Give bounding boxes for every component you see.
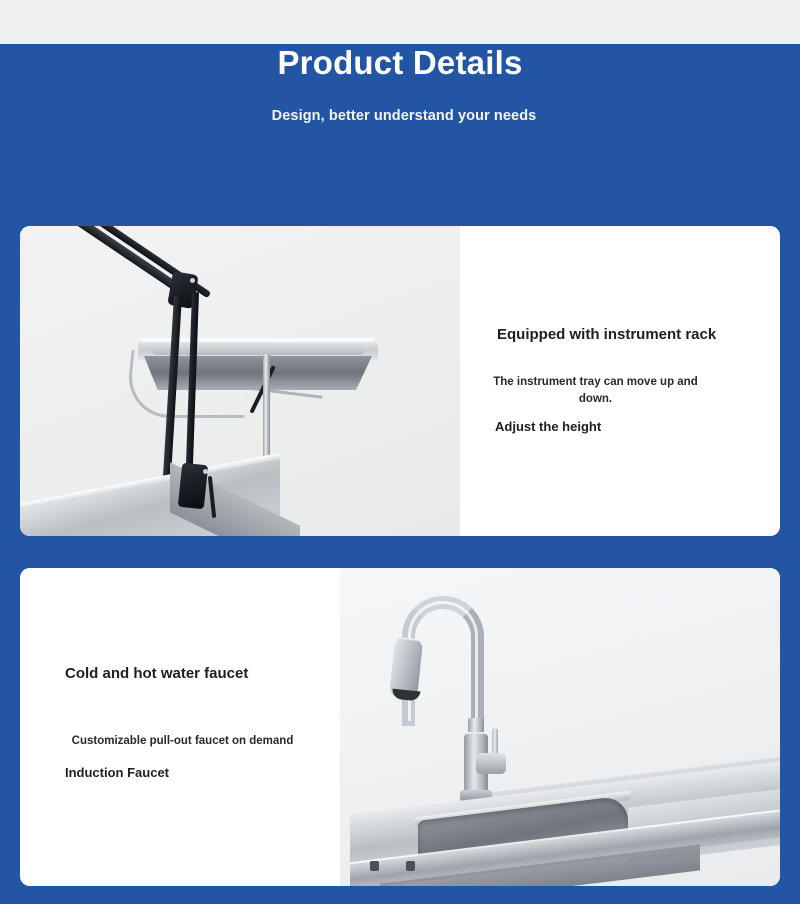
instrument-tray-body [144,356,372,390]
feature-card-water-faucet[interactable]: Cold and hot water faucet Customizable p… [20,568,780,886]
top-strip [0,0,800,44]
instrument-rack-photo [20,226,460,536]
instrument-rack-image [20,226,460,536]
pull-out-faucet-photo [340,568,780,886]
instrument-rack-text-panel: Equipped with instrument rack The instru… [460,226,780,536]
leg-bolt-icon [370,861,379,871]
feature-description: The instrument tray can move up and down… [488,374,703,409]
joint-pin-icon [190,278,195,283]
water-faucet-image [340,568,780,886]
instrument-tray-inner [152,343,364,355]
page-subtitle: Design, better understand your needs [0,108,800,124]
feature-heading: Equipped with instrument rack [497,326,716,343]
feature-subheading: Induction Faucet [65,765,169,780]
feature-subheading: Adjust the height [495,419,601,434]
leg-bolt-icon [406,861,415,871]
feature-card-instrument-rack[interactable]: Equipped with instrument rack The instru… [20,226,780,536]
feature-description: Customizable pull-out faucet on demand [45,733,320,750]
arm-mount-pin-icon [203,469,208,474]
feature-heading: Cold and hot water faucet [65,665,248,682]
faucet-mixer-knob [476,753,506,774]
page-title: Product Details [0,44,800,82]
water-faucet-text-panel: Cold and hot water faucet Customizable p… [20,568,340,886]
